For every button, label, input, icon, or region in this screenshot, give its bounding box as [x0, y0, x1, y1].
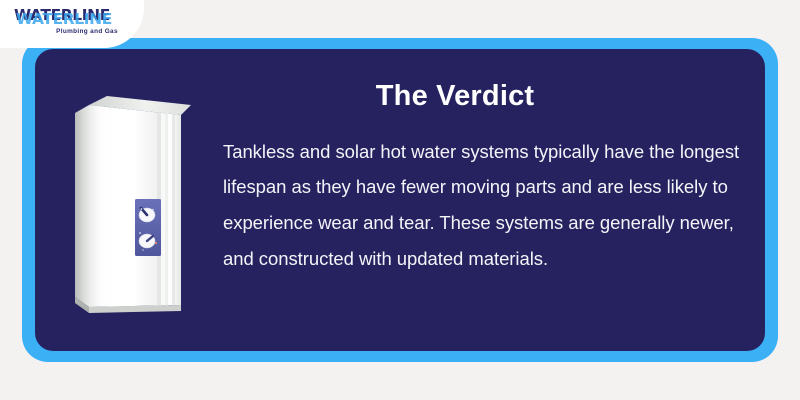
- logo-wordmark-ghost: WATERLINE: [16, 12, 112, 28]
- heater-dial-upper: [139, 208, 155, 222]
- logo-badge[interactable]: WATERLINE WATERLINE Plumbing and Gas: [0, 0, 144, 48]
- logo-tagline: Plumbing and Gas: [14, 28, 134, 35]
- infographic-frame: The Verdict Tankless and solar hot water…: [22, 38, 778, 362]
- heater-side-panel: [75, 105, 89, 307]
- page-title: The Verdict: [205, 82, 705, 111]
- logo-lockup: WATERLINE WATERLINE Plumbing and Gas: [14, 8, 134, 35]
- logo-wordmark: WATERLINE WATERLINE: [14, 8, 134, 24]
- content-panel: The Verdict Tankless and solar hot water…: [35, 49, 765, 351]
- heater-control-panel: [135, 199, 161, 256]
- panel-body-text: Tankless and solar hot water systems typ…: [223, 134, 763, 277]
- water-heater-illustration: [73, 91, 203, 326]
